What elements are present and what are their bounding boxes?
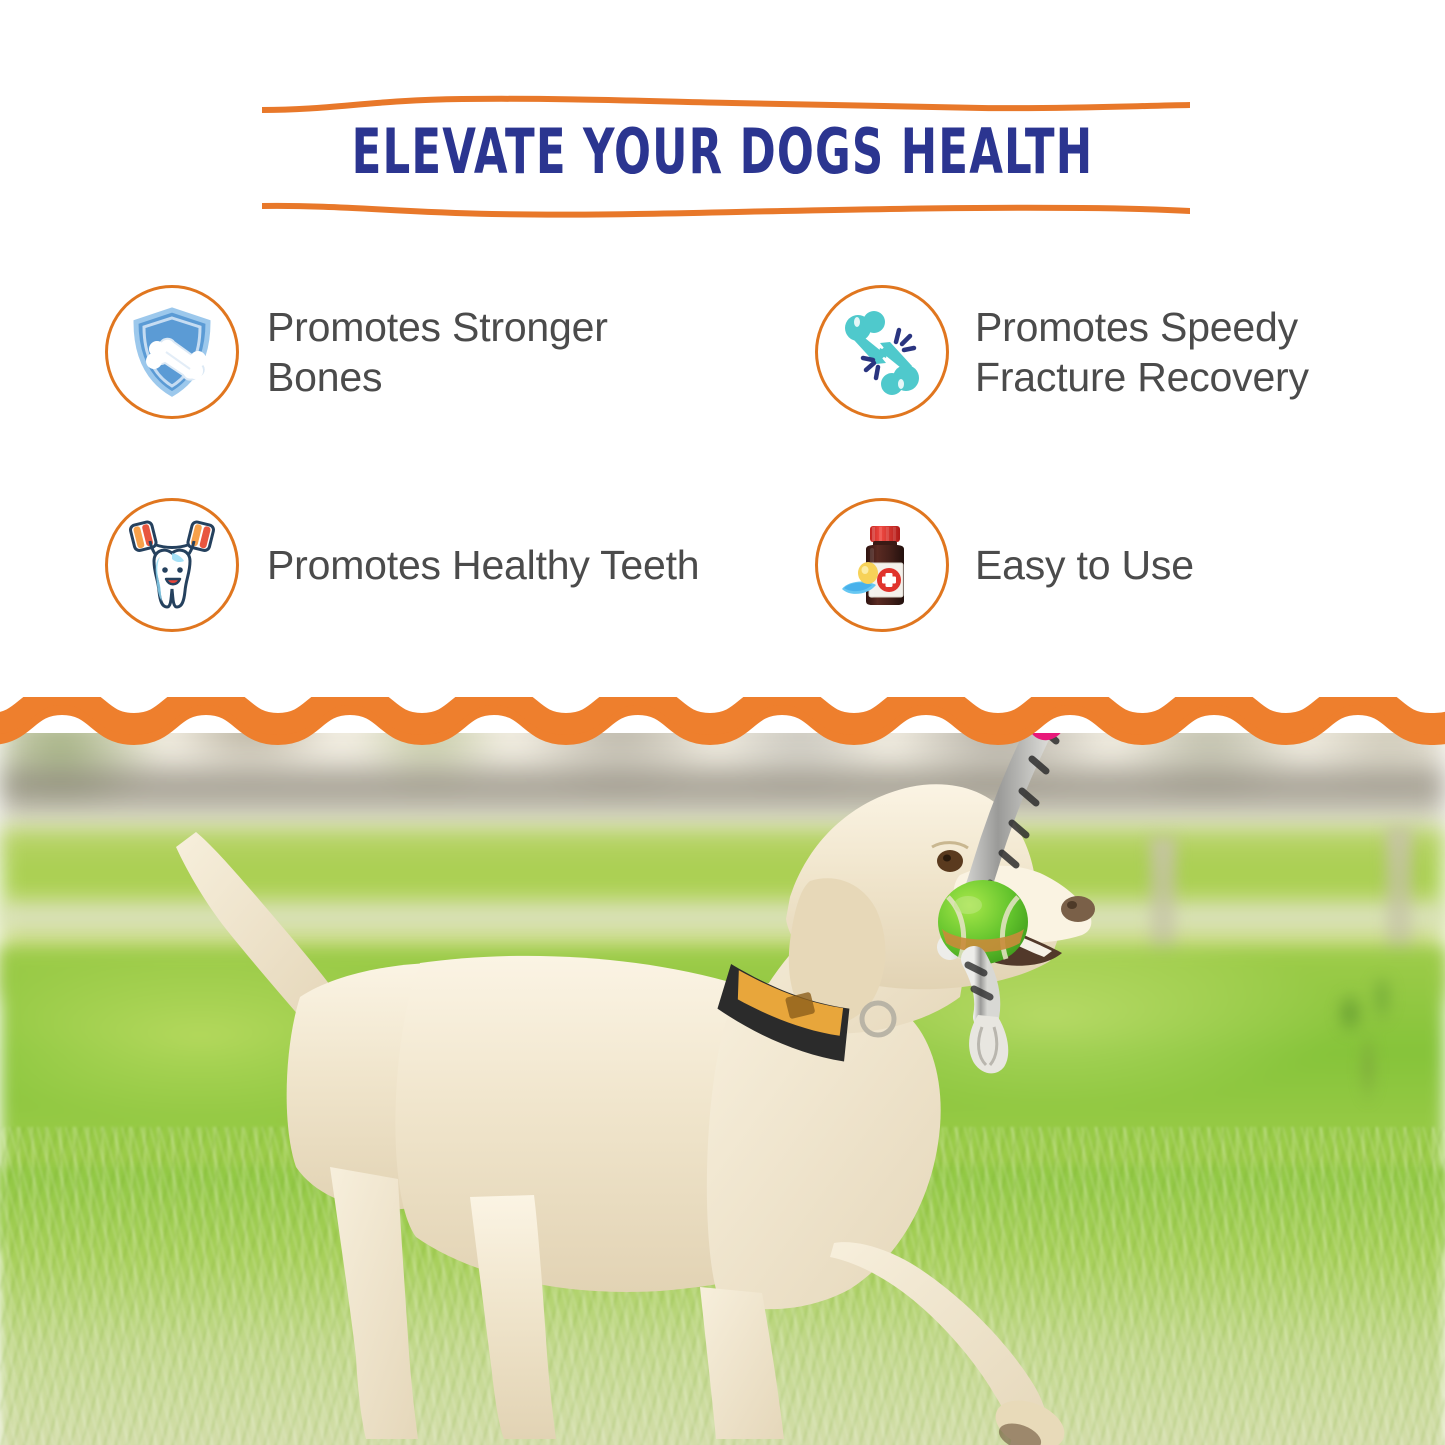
title-rule-bottom — [262, 196, 1190, 222]
tooth-barbell-icon — [105, 498, 239, 632]
broken-bone-icon — [815, 285, 949, 419]
shield-bone-icon — [105, 285, 239, 419]
feature-label: Easy to Use — [975, 540, 1194, 590]
header-section: ELEVATE YOUR DOGS HEALTH — [0, 0, 1445, 240]
medicine-bottle-spoon-icon — [815, 498, 949, 632]
feature-item-healthy-teeth[interactable]: Promotes Healthy Teeth — [105, 498, 725, 632]
feature-item-easy-to-use[interactable]: Easy to Use — [815, 498, 1415, 632]
feature-item-stronger-bones[interactable]: Promotes Stronger Bones — [105, 285, 725, 419]
feature-item-fracture-recovery[interactable]: Promotes Speedy Fracture Recovery — [815, 285, 1415, 419]
dog-subject — [0, 697, 1445, 1445]
feature-label: Promotes Healthy Teeth — [267, 540, 699, 590]
feature-label: Promotes Stronger Bones — [267, 302, 725, 402]
infographic-page: ELEVATE YOUR DOGS HEALTH — [0, 0, 1445, 1445]
wave-top-fill — [0, 697, 1445, 733]
feature-label: Promotes Speedy Fracture Recovery — [975, 302, 1415, 402]
dog-photo — [0, 697, 1445, 1445]
page-title: ELEVATE YOUR DOGS HEALTH — [159, 116, 1286, 188]
feature-grid: Promotes Stronger Bones — [0, 272, 1445, 672]
